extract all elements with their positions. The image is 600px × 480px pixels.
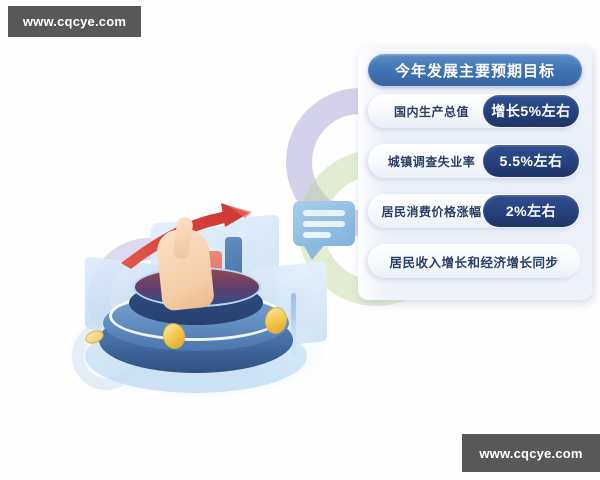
goals-panel: 今年发展主要预期目标 国内生产总值 增长5%左右 城镇调查失业率 5.5%左右 … [358, 46, 592, 300]
goal-row-gdp[interactable]: 国内生产总值 增长5%左右 [368, 94, 580, 128]
goal-label-gdp: 国内生产总值 [368, 103, 483, 120]
goal-row-cpi[interactable]: 居民消费价格涨幅 2%左右 [368, 194, 580, 228]
goal-value-unemployment: 5.5%左右 [483, 145, 579, 177]
screenshot-canvas: 今年发展主要预期目标 国内生产总值 增长5%左右 城镇调查失业率 5.5%左右 … [0, 0, 600, 480]
goal-value-gdp: 增长5%左右 [483, 95, 579, 127]
goal-value-cpi: 2%左右 [483, 195, 579, 227]
goals-panel-title: 今年发展主要预期目标 [368, 54, 582, 86]
goal-label-income: 居民收入增长和经济增长同步 [368, 252, 580, 271]
bubble-line-3 [303, 232, 331, 238]
watermark-top: www.cqcye.com [8, 6, 141, 37]
goal-label-unemployment: 城镇调查失业率 [368, 153, 483, 170]
goal-row-unemployment[interactable]: 城镇调查失业率 5.5%左右 [368, 144, 580, 178]
goal-row-income[interactable]: 居民收入增长和经济增长同步 [368, 244, 580, 278]
bubble-line-1 [303, 210, 345, 216]
speech-bubble-tail-icon [303, 244, 325, 260]
goal-label-cpi: 居民消费价格涨幅 [368, 203, 483, 220]
economic-growth-illustration [55, 195, 355, 405]
bubble-line-2 [303, 221, 345, 227]
watermark-bottom: www.cqcye.com [462, 434, 600, 472]
